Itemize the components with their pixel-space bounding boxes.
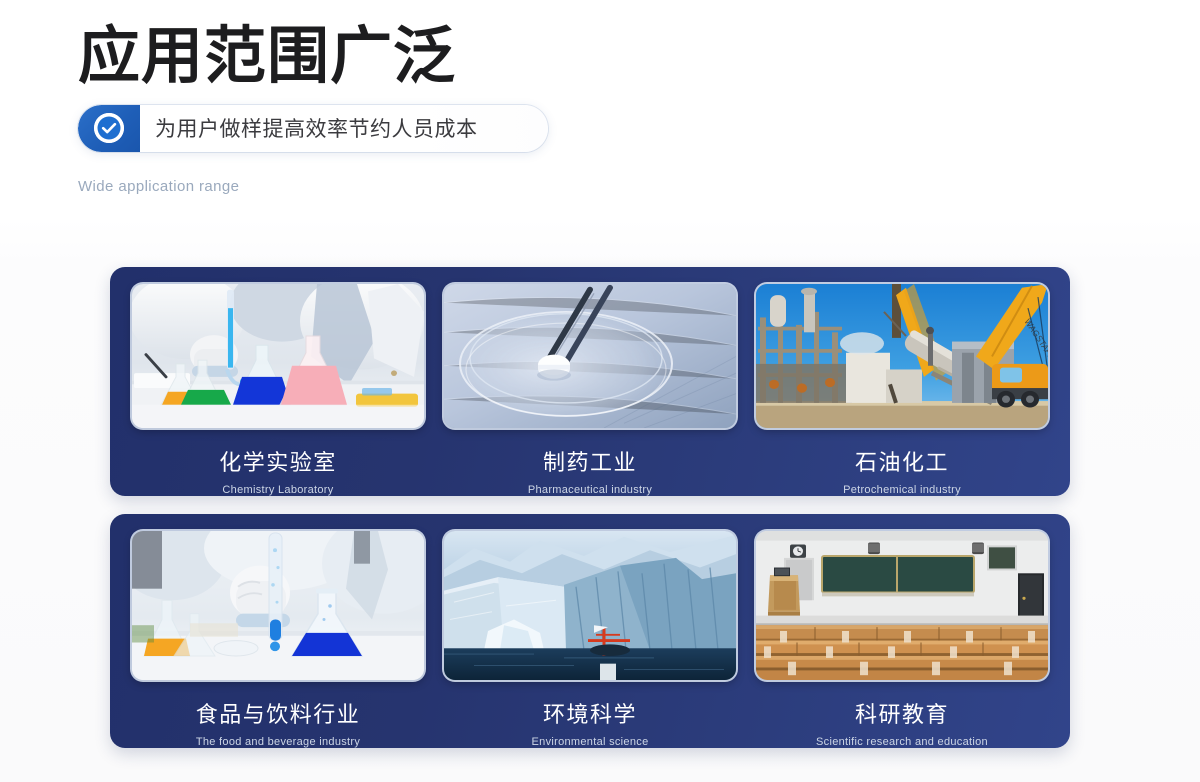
check-badge — [78, 105, 140, 152]
subtitle-pill: 为用户做样提高效率节约人员成本 — [78, 105, 548, 152]
card-subtitle: Pharmaceutical industry — [528, 484, 652, 496]
application-card-food-beverage-industry[interactable]: 食品与饮料行业 The food and beverage industry — [132, 531, 424, 748]
card-subtitle: Environmental science — [532, 736, 649, 748]
petrochemical-industry-photo: WAGSTAFF — [756, 284, 1048, 428]
eyebrow-text: Wide application range — [78, 178, 778, 195]
card-title: 环境科学 — [543, 697, 637, 729]
subtitle-text: 为用户做样提高效率节约人员成本 — [140, 113, 548, 143]
application-card-environmental-science[interactable]: 环境科学 Environmental science — [444, 531, 736, 748]
scientific-research-education-photo — [756, 531, 1048, 680]
application-card-pharmaceutical-industry[interactable]: 制药工业 Pharmaceutical industry — [444, 284, 736, 496]
page-header: 应用范围广泛 为用户做样提高效率节约人员成本 Wide application … — [78, 24, 778, 195]
check-circle-icon — [94, 113, 124, 143]
card-title: 石油化工 — [855, 445, 949, 477]
card-subtitle: Petrochemical industry — [843, 484, 961, 496]
application-card-chemistry-laboratory[interactable]: 化学实验室 Chemistry Laboratory — [132, 284, 424, 496]
chemistry-laboratory-photo — [132, 284, 424, 428]
application-card-scientific-research-education[interactable]: 科研教育 Scientific research and education — [756, 531, 1048, 748]
food-beverage-industry-photo — [132, 531, 424, 680]
card-subtitle: Scientific research and education — [816, 736, 988, 748]
application-row-1: 化学实验室 Chemistry Laboratory — [110, 267, 1070, 496]
card-title: 化学实验室 — [219, 445, 337, 477]
page-title: 应用范围广泛 — [78, 24, 778, 91]
pharmaceutical-industry-photo — [444, 284, 736, 428]
application-card-petrochemical-industry[interactable]: WAGSTAFF 石油化工 Petrochemical industry — [756, 284, 1048, 496]
card-title: 科研教育 — [855, 697, 949, 729]
card-title: 制药工业 — [543, 445, 637, 477]
environmental-science-photo — [444, 531, 736, 680]
card-title: 食品与饮料行业 — [196, 697, 361, 729]
card-subtitle: The food and beverage industry — [196, 736, 360, 748]
card-subtitle: Chemistry Laboratory — [222, 484, 333, 496]
application-row-2: 食品与饮料行业 The food and beverage industry — [110, 514, 1070, 748]
